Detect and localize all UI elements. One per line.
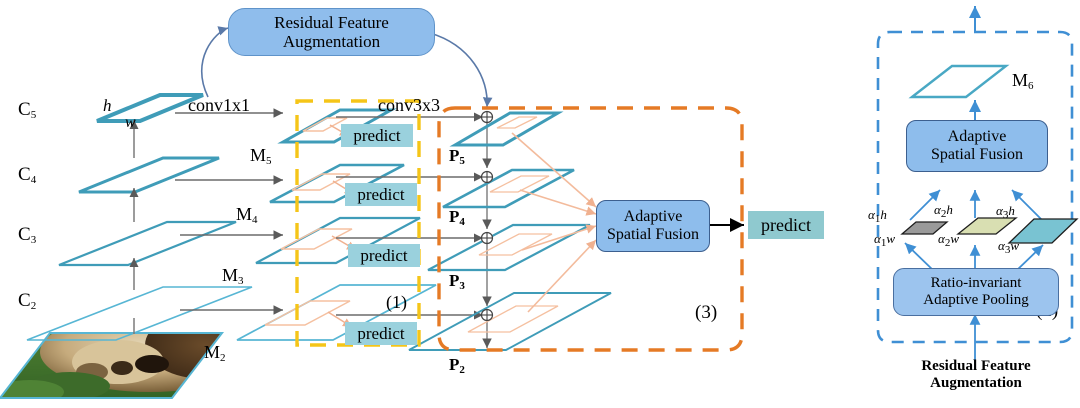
- label-m2-sub: 2: [220, 352, 226, 364]
- label-p4: P4: [449, 207, 465, 228]
- asf-line1: Adaptive: [624, 208, 683, 225]
- label-c5: C5: [18, 99, 36, 121]
- label-m6-letter: M: [1012, 70, 1028, 90]
- feature-map-p5: [455, 113, 558, 145]
- arrow-p4-to-asf: [520, 190, 596, 214]
- ratio-invariant-adaptive-pooling-box[interactable]: Ratio-invariant Adaptive Pooling: [893, 268, 1059, 316]
- label-dim-w: w: [125, 114, 136, 132]
- label-m5-letter: M: [250, 145, 266, 165]
- pool-line1: Ratio-invariant: [931, 275, 1022, 291]
- label-alpha3-w: α3w: [998, 238, 1019, 256]
- label-c3-letter: C: [18, 224, 31, 245]
- label-p3: P3: [449, 271, 465, 292]
- alpha3-h-symbol: α: [996, 203, 1003, 218]
- label-m3: M3: [222, 265, 244, 287]
- label-conv3x3: conv3x3: [378, 95, 440, 116]
- label-m5-sub: 5: [266, 155, 272, 167]
- alpha3-feature-map: [1009, 219, 1077, 243]
- caption-line1: Residual Feature: [921, 358, 1030, 374]
- pool-line2: Adaptive Pooling: [923, 292, 1028, 308]
- asf2-line1: Adaptive: [948, 128, 1007, 145]
- panel-3-label: (3): [695, 302, 717, 324]
- predict-button-m2[interactable]: predict: [345, 322, 417, 345]
- label-c2-letter: C: [18, 290, 31, 311]
- label-p2-sub: 2: [459, 364, 465, 376]
- rfa-box-line2: Augmentation: [283, 32, 380, 51]
- label-p4-sub: 4: [459, 216, 465, 228]
- residual-feature-augmentation-box[interactable]: Residual Feature Augmentation: [228, 8, 435, 56]
- label-c3: C3: [18, 224, 36, 246]
- label-m2-letter: M: [204, 342, 220, 362]
- arrow-c5-to-rfa: [202, 28, 228, 97]
- inner-region-m3: [281, 229, 352, 249]
- label-m4-sub: 4: [252, 214, 258, 226]
- label-m6: M6: [1012, 70, 1034, 92]
- label-c4-letter: C: [18, 164, 31, 185]
- alpha1-w-dim: w: [886, 231, 895, 246]
- label-dim-h: h: [103, 96, 112, 116]
- alpha1-h-dim: h: [880, 207, 887, 222]
- label-alpha3-h: α3h: [996, 203, 1015, 221]
- label-p2: P2: [449, 355, 465, 376]
- panel-1-label: (1): [386, 292, 407, 313]
- caption-line2: Augmentation: [930, 375, 1022, 391]
- final-predict-button[interactable]: predict: [748, 211, 824, 239]
- label-p3-letter: P: [449, 271, 459, 290]
- predict-button-m3[interactable]: predict: [348, 244, 420, 267]
- alpha3-w-dim: w: [1010, 238, 1019, 253]
- label-c5-sub: 5: [31, 109, 37, 121]
- label-p4-letter: P: [449, 207, 459, 226]
- label-p5-letter: P: [449, 146, 459, 165]
- label-c3-sub: 3: [31, 234, 37, 246]
- alpha3-w-symbol: α: [998, 238, 1005, 253]
- alpha2-w-symbol: α: [938, 231, 945, 246]
- alpha3-h-dim: h: [1008, 203, 1015, 218]
- arrow-p3-to-asf: [522, 226, 596, 250]
- panel-2-caption: Residual Feature Augmentation: [886, 358, 1066, 392]
- label-p5: P5: [449, 146, 465, 167]
- feature-map-c3: [59, 222, 236, 265]
- adaptive-spatial-fusion-box[interactable]: Adaptive Spatial Fusion: [596, 200, 710, 252]
- add-node-p5: [482, 112, 493, 123]
- asf2-line2: Spatial Fusion: [931, 146, 1023, 163]
- diagram-canvas: [0, 0, 1080, 408]
- feature-map-p3: [428, 225, 590, 270]
- predict-button-m4[interactable]: predict: [345, 183, 417, 206]
- backbone-feature-maps: [27, 95, 252, 340]
- inner-region-m2: [265, 301, 350, 325]
- alpha1-h-symbol: α: [868, 207, 875, 222]
- label-m3-letter: M: [222, 265, 238, 285]
- label-p2-letter: P: [449, 355, 459, 374]
- alpha2-h-symbol: α: [934, 202, 941, 217]
- alpha1-w-symbol: α: [874, 231, 881, 246]
- feature-map-c4: [79, 158, 219, 192]
- arrow-alpha3-to-asf2: [1012, 190, 1042, 220]
- label-m5: M5: [250, 145, 272, 167]
- predict-button-m5[interactable]: predict: [341, 124, 413, 147]
- add-node-p3: [482, 233, 493, 244]
- adaptive-spatial-fusion-box-detail[interactable]: Adaptive Spatial Fusion: [906, 120, 1048, 172]
- arrow-p2-to-asf: [528, 240, 596, 312]
- figure-root: Residual Feature Augmentation C5 C4 C3 C…: [0, 0, 1080, 408]
- fusion-input-arrows: [512, 133, 596, 312]
- label-m2: M2: [204, 342, 226, 364]
- alpha2-w-dim: w: [950, 231, 959, 246]
- label-c2-sub: 2: [31, 300, 37, 312]
- asf-line2: Spatial Fusion: [607, 226, 699, 243]
- alpha2-h-dim: h: [946, 202, 953, 217]
- label-alpha2-w: α2w: [938, 231, 959, 249]
- label-c2: C2: [18, 290, 36, 312]
- label-m4: M4: [236, 204, 258, 226]
- add-node-p4: [482, 172, 493, 183]
- feature-map-m6: [912, 66, 1006, 97]
- label-c5-letter: C: [18, 99, 31, 120]
- label-p5-sub: 5: [459, 155, 465, 167]
- label-alpha1-h: α1h: [868, 207, 887, 225]
- rfa-box-line1: Residual Feature: [274, 13, 389, 32]
- label-alpha2-h: α2h: [934, 202, 953, 220]
- label-c4: C4: [18, 164, 36, 186]
- add-node-p2: [482, 310, 493, 321]
- label-c4-sub: 4: [31, 174, 37, 186]
- label-conv1x1: conv1x1: [188, 95, 250, 116]
- label-m6-sub: 6: [1028, 80, 1034, 92]
- label-m3-sub: 3: [238, 275, 244, 287]
- label-p3-sub: 3: [459, 280, 465, 292]
- label-m4-letter: M: [236, 204, 252, 224]
- label-alpha1-w: α1w: [874, 231, 895, 249]
